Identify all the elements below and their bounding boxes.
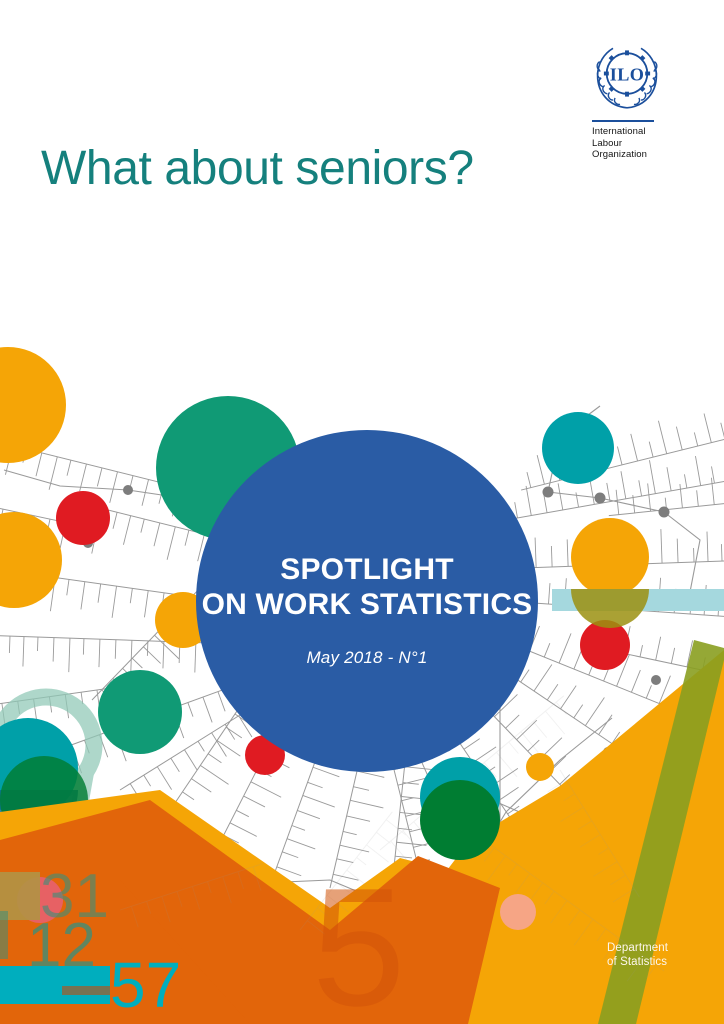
decorative-number-12: 12 xyxy=(27,915,96,977)
decorative-number-57: 57 xyxy=(110,954,181,1016)
red-disc-upper-left xyxy=(56,491,110,545)
publisher-logo: ILO International Labour Organization xyxy=(588,42,666,161)
blush-disc-bottom xyxy=(500,894,536,930)
ilo-emblem-icon: ILO xyxy=(592,42,662,112)
decorative-number-5: 5 xyxy=(312,872,405,1022)
amber-bar-overlap xyxy=(571,589,649,628)
green-disc-bottom xyxy=(420,780,500,860)
dark-orange-tick xyxy=(0,911,8,959)
series-issue: May 2018 - N°1 xyxy=(306,648,427,668)
document-cover: 31 12 57 5 SPOTLIGHT ON WORK STATISTICS … xyxy=(0,0,724,1024)
series-medallion: SPOTLIGHT ON WORK STATISTICS May 2018 - … xyxy=(196,430,538,772)
department-credit: Department of Statistics xyxy=(607,941,668,969)
green-disc-left-low xyxy=(98,670,182,754)
amber-disc-top-left xyxy=(0,347,66,463)
cyan-disc-right xyxy=(542,412,614,484)
series-heading: SPOTLIGHT ON WORK STATISTICS xyxy=(202,552,533,622)
page-title: What about seniors? xyxy=(41,140,474,198)
orange-tick-bar xyxy=(62,986,110,995)
svg-text:ILO: ILO xyxy=(610,65,644,85)
publisher-name: International Labour Organization xyxy=(592,126,666,161)
logo-divider xyxy=(592,120,654,122)
amber-disc-low-right xyxy=(526,753,554,781)
amber-disc-right-mid xyxy=(571,518,649,596)
